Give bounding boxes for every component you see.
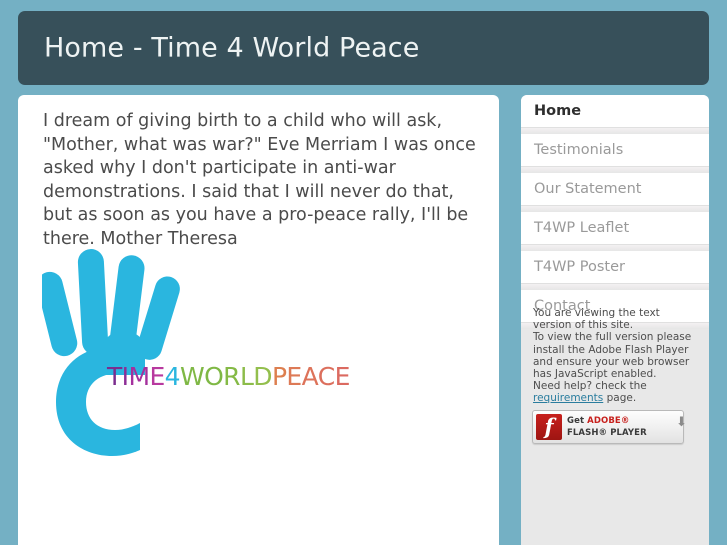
logo-letter: E [286, 362, 301, 391]
logo-letter: T [107, 362, 122, 391]
sidebar-item-label: Our Statement [534, 181, 641, 197]
logo-letter: R [223, 362, 240, 391]
sidebar-item-label: T4WP Poster [534, 259, 625, 275]
quote-text: I dream of giving birth to a child who w… [43, 110, 477, 251]
sidebar-item-t4wp-poster[interactable]: T4WP Poster [521, 251, 709, 284]
flash-notice-line1: You are viewing the text version of this… [533, 307, 698, 331]
sidebar-item-our-statement[interactable]: Our Statement [521, 173, 709, 206]
hand-icon [42, 247, 392, 457]
adobe-badge-text: Get ADOBE® FLASH® PLAYER [567, 415, 647, 439]
adobe-badge-flash-player: FLASH® PLAYER [567, 428, 647, 438]
sidebar-nav: HomeTestimonialsOur StatementT4WP Leafle… [521, 95, 709, 329]
logo-letter: L [240, 362, 253, 391]
site-logo[interactable]: TIME4WORLDPEACE [42, 247, 392, 457]
logo-letter: D [253, 362, 272, 391]
get-adobe-flash-player-button[interactable]: f Get ADOBE® FLASH® PLAYER ⬇ [532, 410, 684, 444]
flash-notice-line3-prefix: Need help? check the [533, 380, 647, 392]
sidebar: HomeTestimonialsOur StatementT4WP Leafle… [521, 95, 709, 545]
logo-letter: E [335, 362, 350, 391]
flash-notice-line3-suffix: page. [603, 392, 636, 404]
sidebar-item-label: T4WP Leaflet [534, 220, 629, 236]
logo-letter: P [272, 362, 286, 391]
adobe-badge-get: Get [567, 416, 587, 426]
page-title: Home - Time 4 World Peace [44, 33, 419, 64]
sidebar-item-label: Home [534, 103, 581, 119]
adobe-badge-adobe: ADOBE® [587, 416, 629, 426]
flash-notice-line2: To view the full version please install … [533, 331, 698, 380]
site-header: Home - Time 4 World Peace [18, 11, 709, 85]
sidebar-item-home[interactable]: Home [521, 95, 709, 128]
requirements-link[interactable]: requirements [533, 392, 603, 404]
flash-notice: You are viewing the text version of this… [533, 307, 698, 405]
adobe-flash-f-glyph: f [536, 414, 562, 440]
adobe-flash-icon: f [536, 414, 562, 440]
logo-letter: O [204, 362, 223, 391]
logo-letter: 4 [165, 362, 180, 391]
sidebar-item-testimonials[interactable]: Testimonials [521, 134, 709, 167]
logo-wordmark: TIME4WORLDPEACE [107, 362, 350, 391]
logo-letter: E [149, 362, 164, 391]
logo-letter: A [302, 362, 318, 391]
flash-notice-line3: Need help? check the requirements page. [533, 380, 698, 404]
logo-letter: W [180, 362, 204, 391]
sidebar-item-t4wp-leaflet[interactable]: T4WP Leaflet [521, 212, 709, 245]
logo-letter: C [318, 362, 335, 391]
sidebar-item-label: Testimonials [534, 142, 623, 158]
main-content-panel: I dream of giving birth to a child who w… [18, 95, 499, 545]
logo-letter: M [128, 362, 149, 391]
